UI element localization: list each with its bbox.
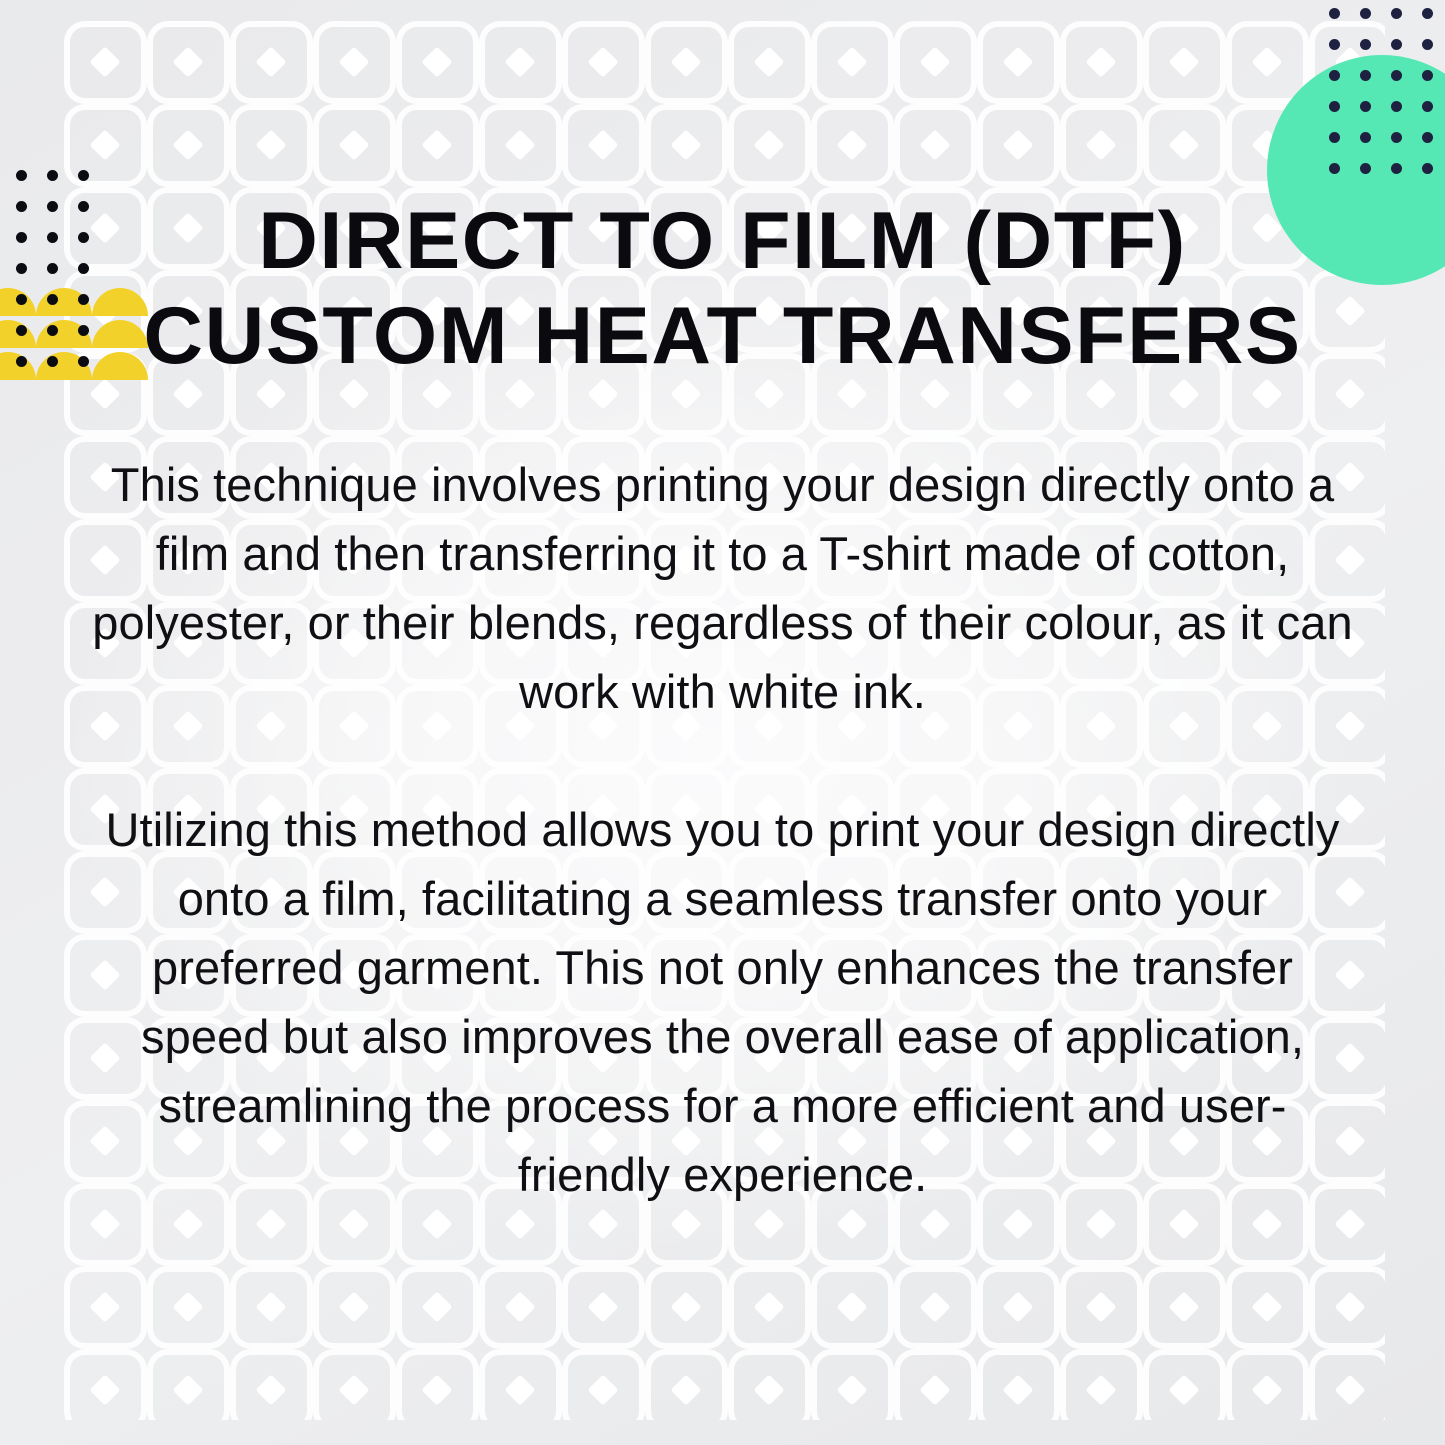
poster-canvas: DIRECT TO FILM (DTF) CUSTOM HEAT TRANSFE… (0, 0, 1445, 1445)
body-paragraph-2: Utilizing this method allows you to prin… (92, 795, 1353, 1209)
poster-content: DIRECT TO FILM (DTF) CUSTOM HEAT TRANSFE… (0, 0, 1445, 1445)
title-line-1: DIRECT TO FILM (DTF) (0, 194, 1445, 289)
title-line-2: CUSTOM HEAT TRANSFERS (0, 289, 1445, 384)
page-title: DIRECT TO FILM (DTF) CUSTOM HEAT TRANSFE… (0, 194, 1445, 384)
body-text-block: This technique involves printing your de… (92, 450, 1353, 1209)
body-paragraph-1: This technique involves printing your de… (92, 450, 1353, 726)
